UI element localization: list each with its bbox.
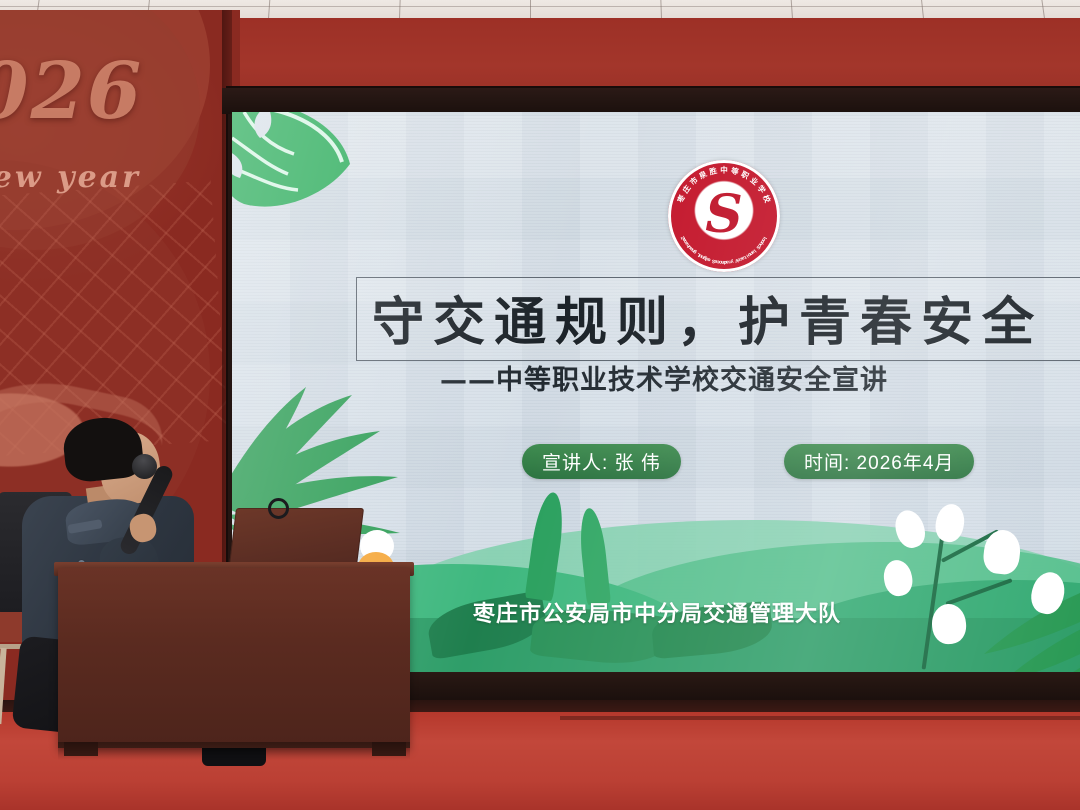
slide-title: 守交通规则，护青春安全 (372, 280, 1080, 355)
laptop-knob (268, 498, 289, 519)
desk-shadow (58, 742, 410, 760)
emblem-center-glyph: S (705, 189, 743, 241)
monstera-leaf-icon (232, 112, 360, 238)
date-pill: 时间: 2026年4月 (784, 444, 974, 479)
speaker-pill: 宣讲人: 张 伟 (522, 444, 681, 479)
banner-year-text: 2026 (0, 46, 143, 137)
slide-subtitle: ——中等职业技术学校交通安全宣讲 (440, 358, 1080, 397)
banner-greeting-text: new year (0, 160, 141, 195)
led-screen-bezel-top (222, 88, 1080, 114)
wooden-desk (58, 568, 410, 748)
chair-leg (0, 648, 7, 724)
stage-edge-line (560, 716, 1080, 720)
presenter-hair (61, 414, 145, 484)
school-emblem: 枣庄市泉胜中等职业学校Zaozhuang Longde Secondary Vo… (668, 160, 780, 272)
photo-scene: 2026 new year (0, 0, 1080, 810)
